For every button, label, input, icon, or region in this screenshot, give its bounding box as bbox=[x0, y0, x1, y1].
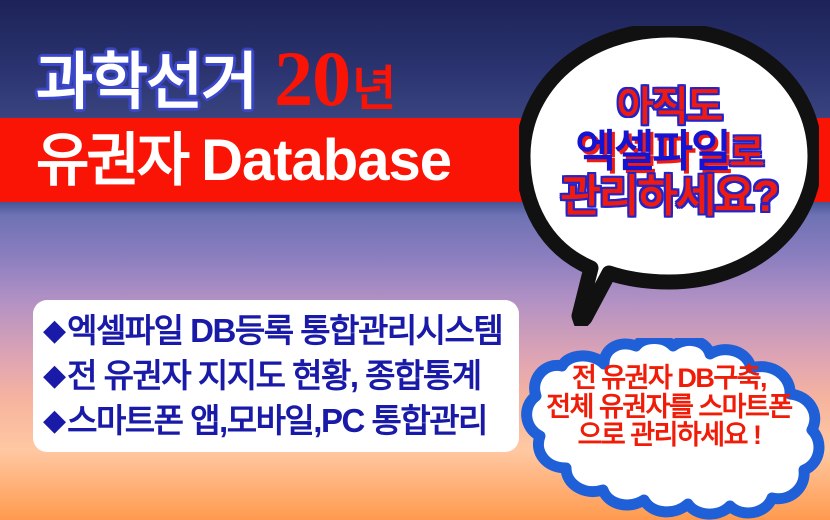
bubble-line-2-blue: 엑셀파일 bbox=[576, 127, 730, 176]
subtitle-english: Database bbox=[201, 132, 451, 190]
speech-bubble-callout: 아직도 엑셀파일로 관리하세요? bbox=[519, 26, 819, 326]
feature-item-3: ◆ 스마트폰 앱,모바일,PC 통합관리 bbox=[43, 398, 519, 443]
diamond-bullet-icon: ◆ bbox=[43, 406, 66, 436]
cloud-line-1: 전 유권자 DB구축, bbox=[508, 364, 830, 393]
headline-secondary: 유권자 Database bbox=[36, 122, 451, 200]
bubble-line-3: 관리하세요? bbox=[519, 175, 819, 219]
headline-primary: 과학선거 20 년 bbox=[0, 14, 520, 114]
subtitle-korean: 유권자 bbox=[36, 132, 187, 190]
bubble-line-2: 엑셀파일로 bbox=[519, 130, 819, 174]
headline-years-unit: 년 bbox=[352, 66, 394, 114]
cloud-line-3: 으로 관리하세요 ! bbox=[508, 421, 830, 450]
cloud-callout-text: 전 유권자 DB구축, 전체 유권자를 스마트폰 으로 관리하세요 ! bbox=[508, 364, 830, 450]
bubble-line-1: 아직도 bbox=[519, 88, 819, 128]
feature-list-box: ◆ 엑셀파일 DB등록 통합관리시스템 ◆ 전 유권자 지지도 현황, 종합통계… bbox=[33, 300, 519, 452]
headline-years-number: 20 bbox=[274, 45, 350, 114]
bubble-line-2-red: 로 bbox=[729, 133, 762, 175]
diamond-bullet-icon: ◆ bbox=[43, 316, 66, 346]
diamond-bullet-icon: ◆ bbox=[43, 361, 66, 391]
promo-banner: 과학선거 20 년 유권자 Database 아직도 엑셀파일로 관리하세요? … bbox=[0, 0, 830, 520]
cloud-callout: 전 유권자 DB구축, 전체 유권자를 스마트폰 으로 관리하세요 ! bbox=[508, 338, 830, 520]
feature-item-2-label: 전 유권자 지지도 현황, 종합통계 bbox=[67, 359, 481, 392]
feature-item-2: ◆ 전 유권자 지지도 현황, 종합통계 bbox=[43, 353, 519, 398]
speech-bubble-text: 아직도 엑셀파일로 관리하세요? bbox=[519, 88, 819, 219]
feature-item-1-label: 엑셀파일 DB등록 통합관리시스템 bbox=[67, 314, 502, 347]
feature-item-1: ◆ 엑셀파일 DB등록 통합관리시스템 bbox=[43, 308, 519, 353]
headline-korean-title: 과학선거 bbox=[36, 52, 256, 114]
cloud-line-2: 전체 유권자를 스마트폰 bbox=[508, 393, 830, 422]
feature-item-3-label: 스마트폰 앱,모바일,PC 통합관리 bbox=[67, 404, 487, 437]
